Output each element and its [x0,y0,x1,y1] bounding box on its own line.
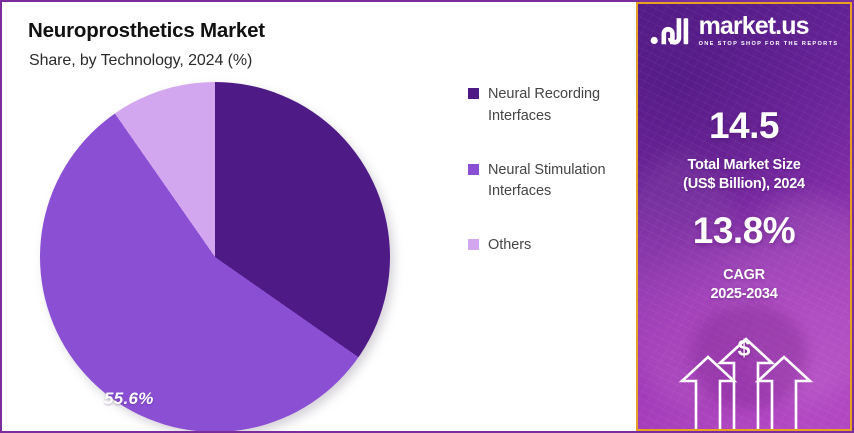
legend-swatch-icon [468,88,479,99]
brand-tagline: ONE STOP SHOP FOR THE REPORTS [699,42,839,48]
chart-panel: Neuroprosthetics Market Share, by Techno… [2,2,636,431]
chart-subtitle: Share, by Technology, 2024 (%) [29,52,252,70]
stat-caption-line: Total Market Size [638,156,850,175]
legend-label: Others [488,235,531,257]
stat-caption-line: (US$ Billion), 2024 [638,175,850,194]
stat-market-size-caption: Total Market Size (US$ Billion), 2024 [638,156,850,193]
market-us-logo-icon [650,16,692,46]
chart-legend: Neural Recording Interfaces Neural Stimu… [468,84,628,289]
pie-slice-label-neural-stimulation: 55.6% [104,389,154,409]
growth-arrows-graphic: $ [638,319,850,429]
legend-swatch-icon [468,239,479,250]
page-title: Neuroprosthetics Market [28,19,265,43]
legend-item-neural-recording-interfaces[interactable]: Neural Recording Interfaces [468,84,628,128]
brand-logo-text: market.us ONE STOP SHOP FOR THE REPORTS [699,14,839,48]
brand-name: market.us [699,14,839,39]
legend-label: Neural Stimulation Interfaces [488,160,628,204]
pie-chart: 55.6% [40,82,390,432]
market-us-side-panel: market.us ONE STOP SHOP FOR THE REPORTS … [636,2,852,431]
stat-caption-line: CAGR [638,266,850,285]
legend-item-others[interactable]: Others [468,235,628,257]
stat-market-size-value: 14.5 [638,107,850,144]
stat-cagr-value: 13.8% [638,212,850,249]
pie-slices [40,82,390,432]
legend-label: Neural Recording Interfaces [488,84,628,128]
legend-swatch-icon [468,164,479,175]
legend-item-neural-stimulation-interfaces[interactable]: Neural Stimulation Interfaces [468,160,628,204]
stat-caption-line: 2025-2034 [638,285,850,304]
infographic-frame: Neuroprosthetics Market Share, by Techno… [0,0,854,433]
brand-logo[interactable]: market.us ONE STOP SHOP FOR THE REPORTS [638,14,850,48]
up-arrows-icon [638,319,852,429]
stat-cagr-caption: CAGR 2025-2034 [638,266,850,303]
